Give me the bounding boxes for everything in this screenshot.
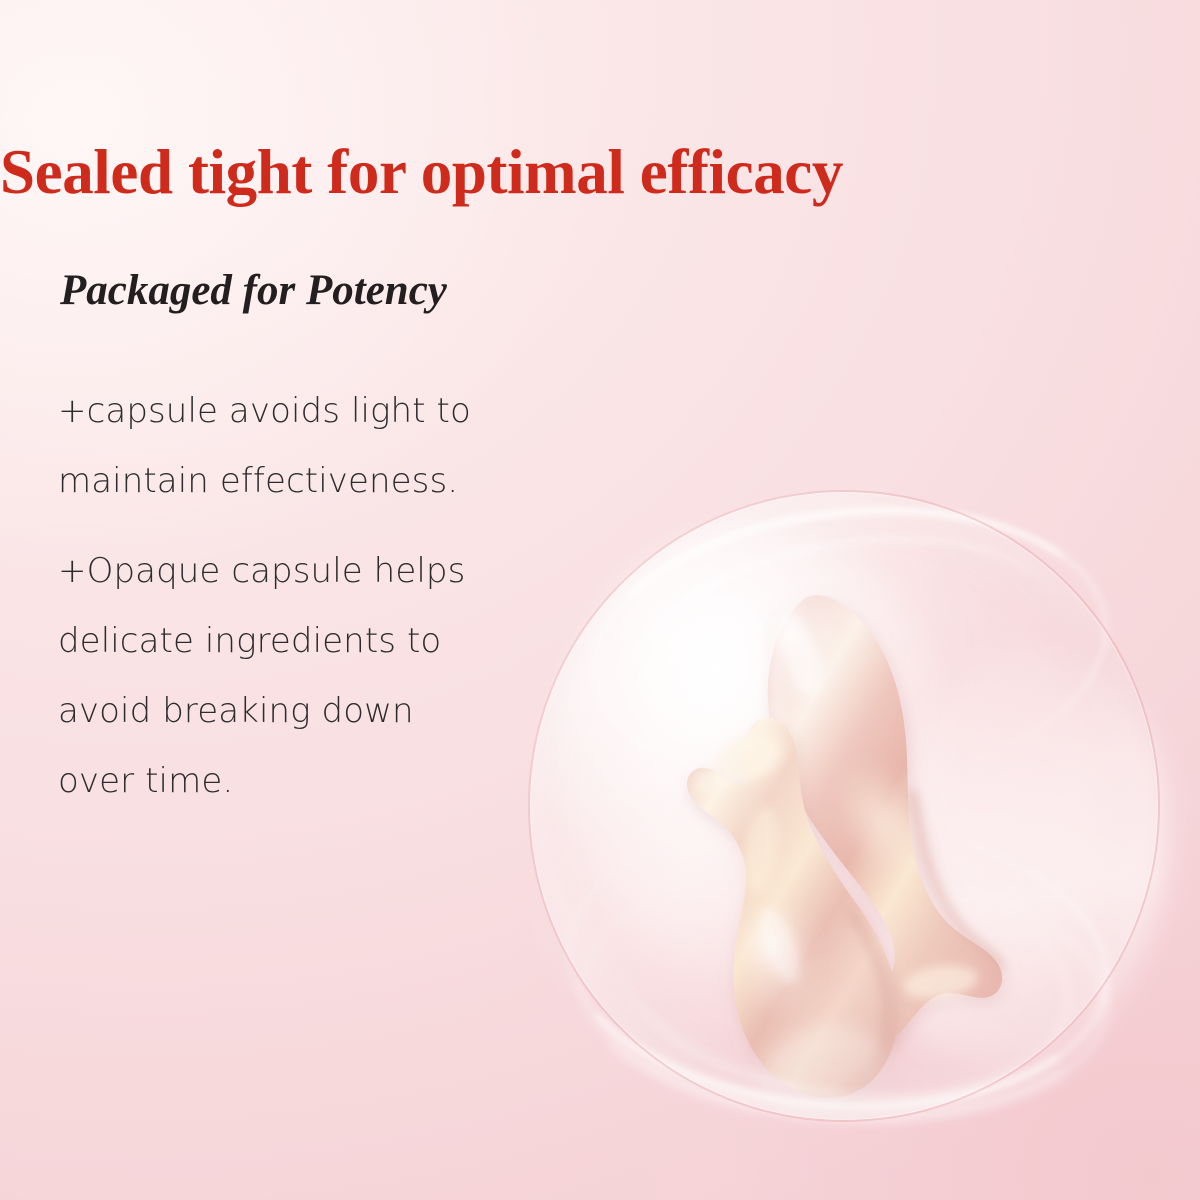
bullet-2-line-1: +Opaque capsule helps [58,536,598,606]
bubble-illustration [528,490,1160,1122]
promo-banner: Sealed tight for optimal efficacy Packag… [0,0,1200,1200]
bullet-2-line-2: delicate ingredients to [58,606,598,676]
bullet-1-line-2: maintain effectiveness. [58,446,598,516]
bullet-block-2: +Opaque capsule helps delicate ingredien… [58,536,598,816]
subheading: Packaged for Potency [60,267,447,314]
bullet-block-1: +capsule avoids light to maintain effect… [58,376,598,516]
page-title: Sealed tight for optimal efficacy [0,141,1120,204]
bullet-1-line-1: +capsule avoids light to [58,376,598,446]
bullet-2-line-4: over time. [58,746,598,816]
bullet-2-line-3: avoid breaking down [58,676,598,746]
bubble-red-rim-highlight [528,490,1160,1122]
